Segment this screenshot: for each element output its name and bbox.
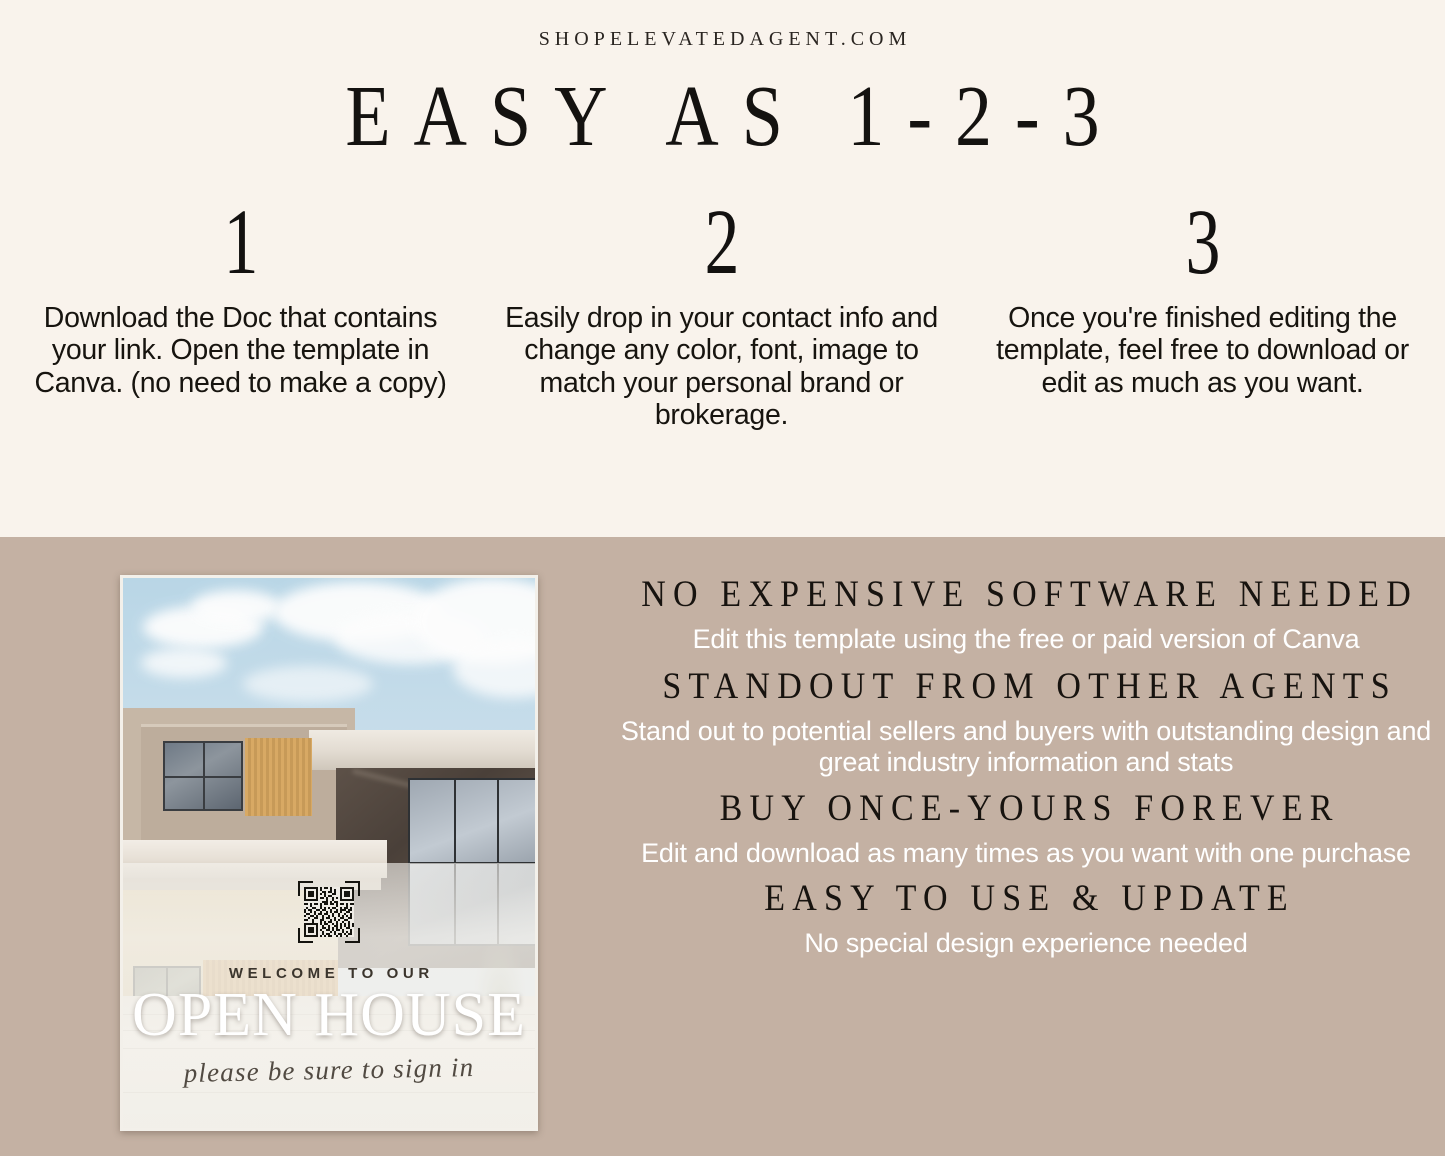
- benefit-title: NO EXPENSIVE SOFTWARE NEEDED: [620, 571, 1432, 620]
- flyer-canvas: WELCOME TO OUR OPEN HOUSE please be sure…: [120, 575, 538, 1131]
- intro-section: SHOPELEVATEDAGENT.COM EASY AS 1-2-3 1 Do…: [0, 0, 1445, 537]
- cloud-shape: [141, 648, 227, 678]
- benefits-list: NO EXPENSIVE SOFTWARE NEEDED Edit this t…: [620, 573, 1432, 964]
- benefit-title: BUY ONCE-YOURS FOREVER: [620, 784, 1432, 833]
- page-title: EASY AS 1-2-3: [0, 72, 1445, 164]
- benefit-title: STANDOUT FROM OTHER AGENTS: [620, 663, 1432, 712]
- house-wood-slats-upper: [245, 738, 312, 816]
- qr-corner-bracket-icon: [345, 881, 360, 896]
- qr-code[interactable]: [298, 881, 360, 943]
- site-url: SHOPELEVATEDAGENT.COM: [0, 28, 1445, 51]
- step-number: 1: [223, 196, 258, 289]
- steps-row: 1 Download the Doc that contains your li…: [0, 196, 1445, 431]
- cloud-shape: [191, 590, 281, 624]
- benefit-body: Stand out to potential sellers and buyer…: [620, 716, 1432, 779]
- benefit-item: EASY TO USE & UPDATE No special design e…: [620, 877, 1432, 959]
- benefit-body: No special design experience needed: [620, 928, 1432, 959]
- step-description: Download the Doc that contains your link…: [26, 302, 456, 399]
- house-upper-window: [163, 741, 243, 811]
- step-item: 1 Download the Doc that contains your li…: [0, 196, 481, 431]
- benefit-body: Edit and download as many times as you w…: [620, 838, 1432, 869]
- open-house-flyer-preview[interactable]: WELCOME TO OUR OPEN HOUSE please be sure…: [120, 575, 538, 1131]
- step-number: 3: [1185, 196, 1220, 289]
- step-number: 2: [704, 196, 739, 289]
- features-section: WELCOME TO OUR OPEN HOUSE please be sure…: [0, 537, 1445, 1156]
- house-roof-fascia: [309, 730, 538, 770]
- benefit-body: Edit this template using the free or pai…: [620, 624, 1432, 655]
- benefit-item: BUY ONCE-YOURS FOREVER Edit and download…: [620, 787, 1432, 869]
- qr-corner-bracket-icon: [298, 928, 313, 943]
- flyer-welcome-text: WELCOME TO OUR: [123, 965, 535, 982]
- benefit-item: STANDOUT FROM OTHER AGENTS Stand out to …: [620, 665, 1432, 779]
- qr-corner-bracket-icon: [345, 928, 360, 943]
- benefit-item: NO EXPENSIVE SOFTWARE NEEDED Edit this t…: [620, 573, 1432, 655]
- flyer-headline: OPEN HOUSE: [123, 981, 535, 1050]
- step-item: 3 Once you're finished editing the templ…: [962, 196, 1443, 431]
- benefit-title: EASY TO USE & UPDATE: [620, 875, 1432, 924]
- step-description: Once you're finished editing the templat…: [988, 302, 1418, 399]
- step-description: Easily drop in your contact info and cha…: [494, 302, 949, 431]
- cloud-shape: [243, 666, 373, 702]
- qr-corner-bracket-icon: [298, 881, 313, 896]
- step-item: 2 Easily drop in your contact info and c…: [481, 196, 962, 431]
